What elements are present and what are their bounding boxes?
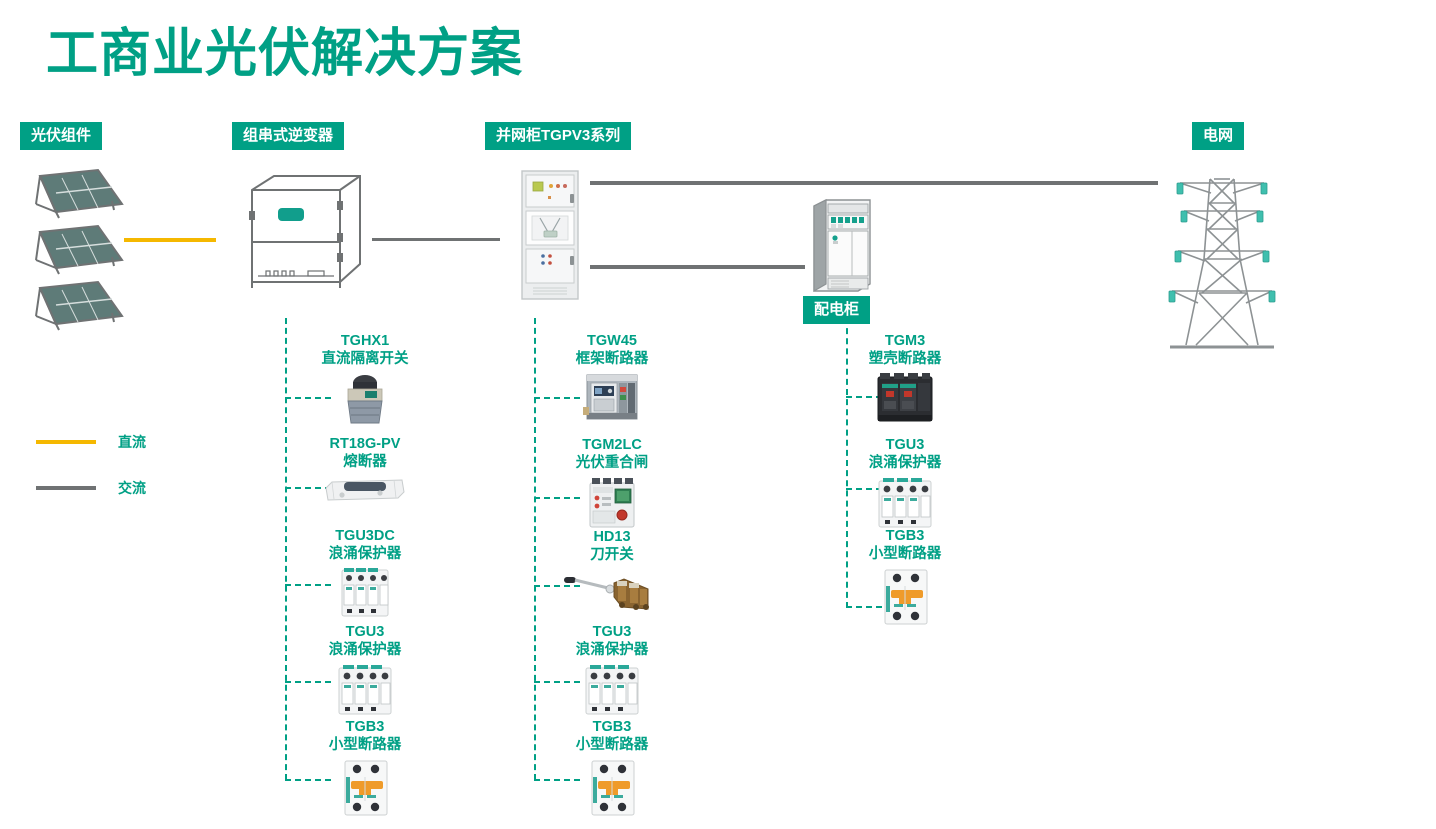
product-model: TGU3DC bbox=[280, 527, 450, 545]
surge-protector-icon bbox=[280, 662, 450, 720]
badge-pv-modules: 光伏组件 bbox=[20, 122, 102, 150]
product-model: TGB3 bbox=[820, 527, 990, 545]
diagram-canvas: 工商业光伏解决方案 光伏组件 组串式逆变器 并网柜TGPV3系列 配电柜 电网 bbox=[0, 0, 1436, 829]
distribution-cabinet-unit bbox=[806, 196, 876, 296]
badge-distribution-cabinet: 配电柜 bbox=[803, 296, 870, 324]
product-rt18g-pv: RT18G-PV 熔断器 bbox=[280, 435, 450, 504]
badge-string-inverter: 组串式逆变器 bbox=[232, 122, 344, 150]
product-name-cn: 浪涌保护器 bbox=[280, 545, 450, 563]
legend-label-dc: 直流 bbox=[118, 432, 146, 452]
page-title: 工商业光伏解决方案 bbox=[46, 26, 523, 83]
product-model: TGU3 bbox=[280, 623, 450, 641]
knife-switch-icon bbox=[527, 567, 697, 617]
ac-connection-line-distribution bbox=[590, 265, 805, 269]
product-tgb3-inverter: TGB3 小型断路器 bbox=[280, 718, 450, 819]
fuse-holder-icon bbox=[280, 474, 450, 504]
product-tgu3dc: TGU3DC 浪涌保护器 bbox=[280, 527, 450, 622]
product-model: TGM2LC bbox=[527, 436, 697, 454]
legend-item-dc: 直流 bbox=[36, 432, 146, 452]
product-model: TGU3 bbox=[527, 623, 697, 641]
product-model: TGB3 bbox=[280, 718, 450, 736]
product-name-cn: 浪涌保护器 bbox=[820, 454, 990, 472]
badge-power-grid: 电网 bbox=[1192, 122, 1244, 150]
miniature-circuit-breaker-icon bbox=[527, 757, 697, 819]
product-name-cn: 小型断路器 bbox=[280, 736, 450, 754]
product-model: HD13 bbox=[527, 528, 697, 546]
product-tgu3-inverter: TGU3 浪涌保护器 bbox=[280, 623, 450, 720]
badge-grid-cabinet: 并网柜TGPV3系列 bbox=[485, 122, 631, 150]
pv-recloser-icon bbox=[527, 475, 697, 529]
product-name-cn: 刀开关 bbox=[527, 546, 697, 564]
surge-protector-icon bbox=[820, 475, 990, 533]
product-hd13: HD13 刀开关 bbox=[527, 528, 697, 617]
product-model: TGW45 bbox=[527, 332, 697, 350]
product-tgb3-distribution: TGB3 小型断路器 bbox=[820, 527, 990, 628]
legend-swatch-dc bbox=[36, 440, 96, 444]
product-name-cn: 浪涌保护器 bbox=[527, 641, 697, 659]
surge-protector-dc-icon bbox=[280, 566, 450, 622]
product-name-cn: 熔断器 bbox=[280, 453, 450, 471]
product-name-cn: 框架断路器 bbox=[527, 350, 697, 368]
dc-isolator-switch-icon bbox=[280, 371, 450, 427]
product-name-cn: 直流隔离开关 bbox=[280, 350, 450, 368]
surge-protector-icon bbox=[527, 662, 697, 720]
product-model: RT18G-PV bbox=[280, 435, 450, 453]
grid-tie-cabinet-unit bbox=[521, 170, 579, 300]
moulded-case-circuit-breaker-icon bbox=[820, 371, 990, 425]
miniature-circuit-breaker-icon bbox=[820, 566, 990, 628]
product-name-cn: 塑壳断路器 bbox=[820, 350, 990, 368]
product-tgu3-distribution: TGU3 浪涌保护器 bbox=[820, 436, 990, 533]
product-tgb3-grid: TGB3 小型断路器 bbox=[527, 718, 697, 819]
product-tgw45: TGW45 框架断路器 bbox=[527, 332, 697, 423]
product-tgm2lc: TGM2LC 光伏重合闸 bbox=[527, 436, 697, 529]
ac-connection-line-inverter bbox=[372, 238, 500, 241]
product-tghx1: TGHX1 直流隔离开关 bbox=[280, 332, 450, 427]
string-inverter-unit bbox=[230, 172, 375, 302]
legend-label-ac: 交流 bbox=[118, 478, 146, 498]
air-circuit-breaker-icon bbox=[527, 371, 697, 423]
solar-panel-array bbox=[22, 168, 222, 338]
product-name-cn: 小型断路器 bbox=[820, 545, 990, 563]
legend-item-ac: 交流 bbox=[36, 478, 146, 498]
product-name-cn: 光伏重合闸 bbox=[527, 454, 697, 472]
product-model: TGHX1 bbox=[280, 332, 450, 350]
dc-connection-line bbox=[124, 238, 216, 242]
product-tgm3: TGM3 塑壳断路器 bbox=[820, 332, 990, 425]
ac-connection-line-grid bbox=[590, 181, 1158, 185]
miniature-circuit-breaker-icon bbox=[280, 757, 450, 819]
product-model: TGB3 bbox=[527, 718, 697, 736]
transmission-tower-unit bbox=[1162, 163, 1282, 358]
product-name-cn: 浪涌保护器 bbox=[280, 641, 450, 659]
product-name-cn: 小型断路器 bbox=[527, 736, 697, 754]
product-tgu3-grid: TGU3 浪涌保护器 bbox=[527, 623, 697, 720]
product-model: TGM3 bbox=[820, 332, 990, 350]
product-model: TGU3 bbox=[820, 436, 990, 454]
legend-swatch-ac bbox=[36, 486, 96, 490]
